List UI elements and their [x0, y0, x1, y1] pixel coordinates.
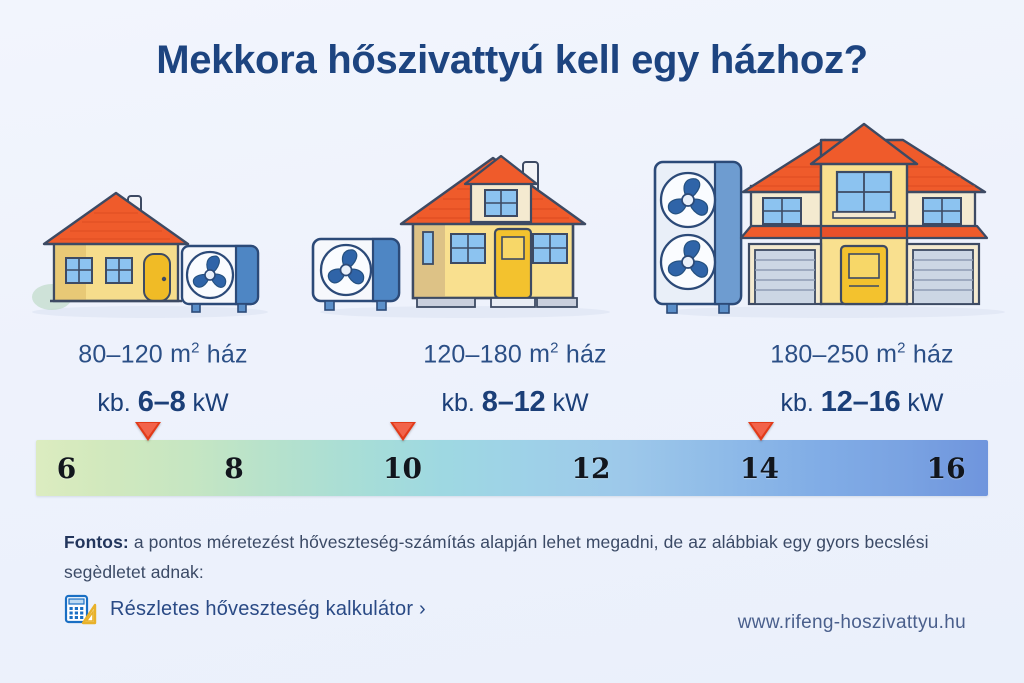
kw-scale-gradient-bar: [36, 440, 988, 496]
unit-m2: m2: [170, 340, 200, 368]
scene-medium-house: [305, 134, 605, 319]
scale-tick-10: 10: [383, 452, 422, 485]
scene-small-house: [30, 184, 280, 319]
caption-area-large: 180–250 m2 ház: [712, 340, 1012, 369]
website-url: www.rifeng-hoszivattyu.hu: [738, 612, 966, 634]
large-house-with-dual-fan-heat-pump-icon: [645, 114, 1005, 319]
note-body: a pontos méretezést hőveszteség-számítás…: [64, 532, 929, 582]
scale-tick-14: 14: [740, 452, 779, 485]
scene-large-house: [645, 114, 1005, 319]
calculator-link[interactable]: Részletes hőveszteség kalkulátor ›: [64, 592, 426, 626]
caption-power-small: kb. 6–8 kW: [18, 386, 308, 419]
scale-tick-6: 6: [57, 452, 76, 485]
small-house-with-heat-pump-icon: [30, 184, 280, 319]
calculator-link-label: Részletes hőveszteség kalkulátor ›: [110, 598, 426, 621]
scale-tick-8: 8: [224, 452, 243, 485]
important-note: Fontos: a pontos méretezést hőveszteség-…: [64, 527, 969, 587]
caption-area-small: 80–120 m2 ház: [18, 340, 308, 369]
caption-power-medium: kb. 8–12 kW: [365, 386, 665, 419]
scale-tick-16: 16: [927, 452, 966, 485]
caption-large: 180–250 m2 ház kb. 12–16 kW: [712, 340, 1012, 419]
page-title: Mekkora hőszivattyú kell egy házhoz?: [0, 38, 1024, 83]
caption-medium: 120–180 m2 ház kb. 8–12 kW: [365, 340, 665, 419]
caption-area-medium: 120–180 m2 ház: [365, 340, 665, 369]
illustration-row: [0, 110, 1024, 325]
unit-m2: m2: [529, 340, 559, 368]
kw-scale: 6 8 10 12 14 16: [36, 440, 988, 496]
scale-marker-14: [748, 422, 774, 441]
scale-tick-12: 12: [572, 452, 611, 485]
medium-house-with-heat-pump-icon: [305, 134, 605, 319]
scale-marker-10: [390, 422, 416, 441]
scale-marker-8: [135, 422, 161, 441]
unit-m2: m2: [876, 340, 906, 368]
note-lead: Fontos:: [64, 532, 129, 552]
calculator-triangle-icon: [64, 592, 98, 626]
caption-small: 80–120 m2 ház kb. 6–8 kW: [18, 340, 308, 419]
caption-power-large: kb. 12–16 kW: [712, 386, 1012, 419]
